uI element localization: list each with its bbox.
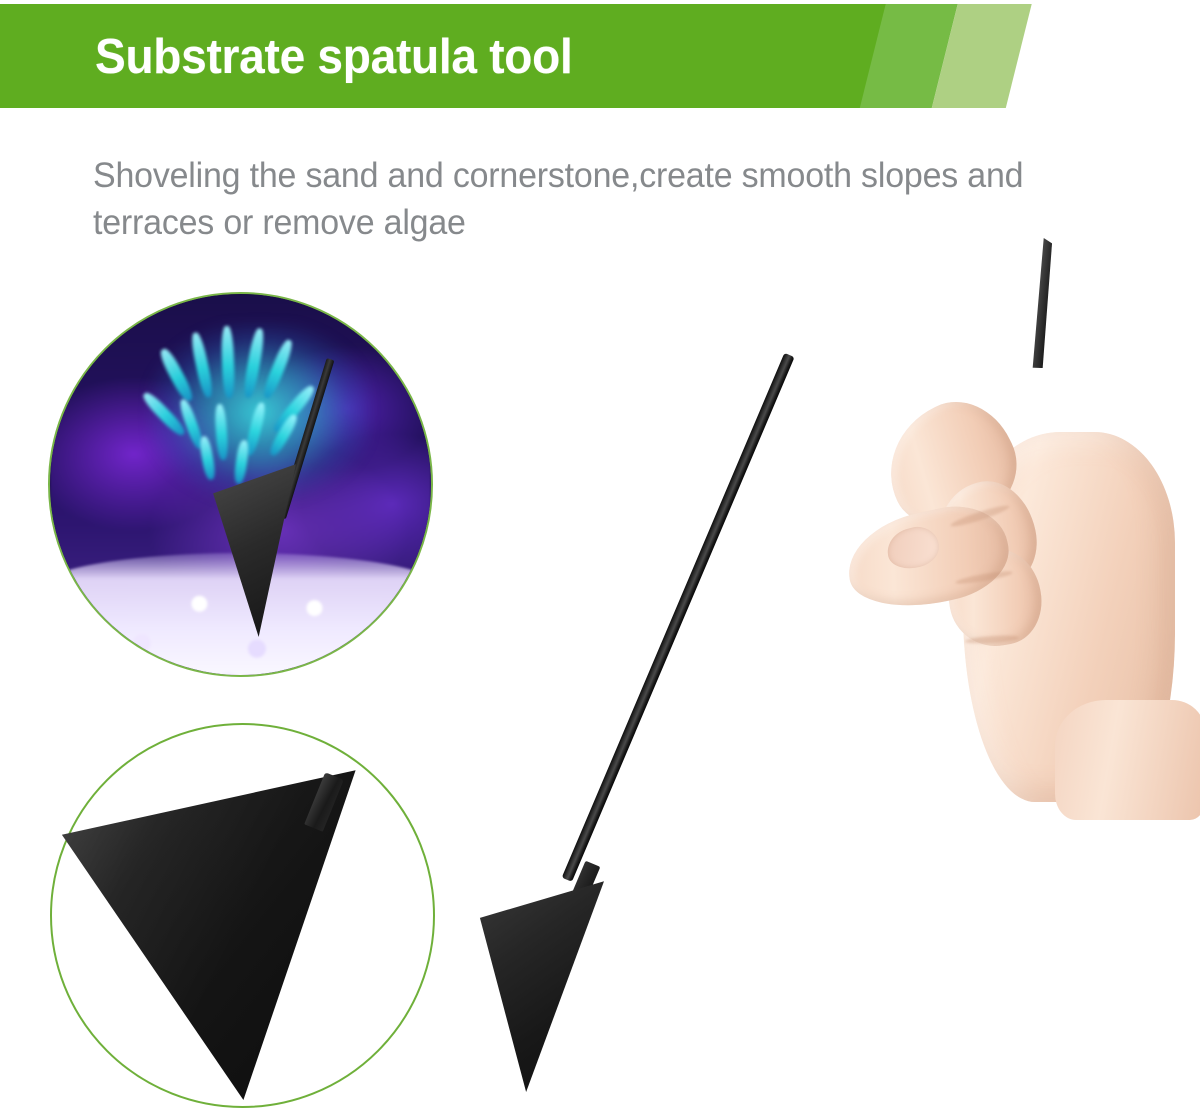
hand-palm [963,432,1175,802]
ring-finger [941,543,1048,654]
hand [905,360,1200,810]
blade-closeup-figure [52,760,382,1100]
product-infographic-page: Substrate spatula tool Shoveling the san… [0,0,1200,1114]
thumb-nail [883,522,943,573]
tool-blade-neck [568,861,601,910]
tool-spatula-blade [472,877,604,1092]
tool-handle-shaft [562,353,795,882]
knuckle-crease [965,634,1019,645]
knuckle-crease [949,503,1010,530]
aquarium-photo-circle [48,292,433,677]
middle-finger [926,471,1047,599]
index-finger [868,384,1035,546]
page-title: Substrate spatula tool [95,20,573,94]
hand-wrist [1055,700,1200,820]
thumb [839,496,1017,620]
tool-flat-end [1030,238,1052,368]
subtitle-text: Shoveling the sand and cornerstone,creat… [93,152,1112,246]
blade-closeup-sheen [52,760,382,1100]
header-banner: Substrate spatula tool [0,4,1200,108]
knuckle-crease [955,569,1013,586]
